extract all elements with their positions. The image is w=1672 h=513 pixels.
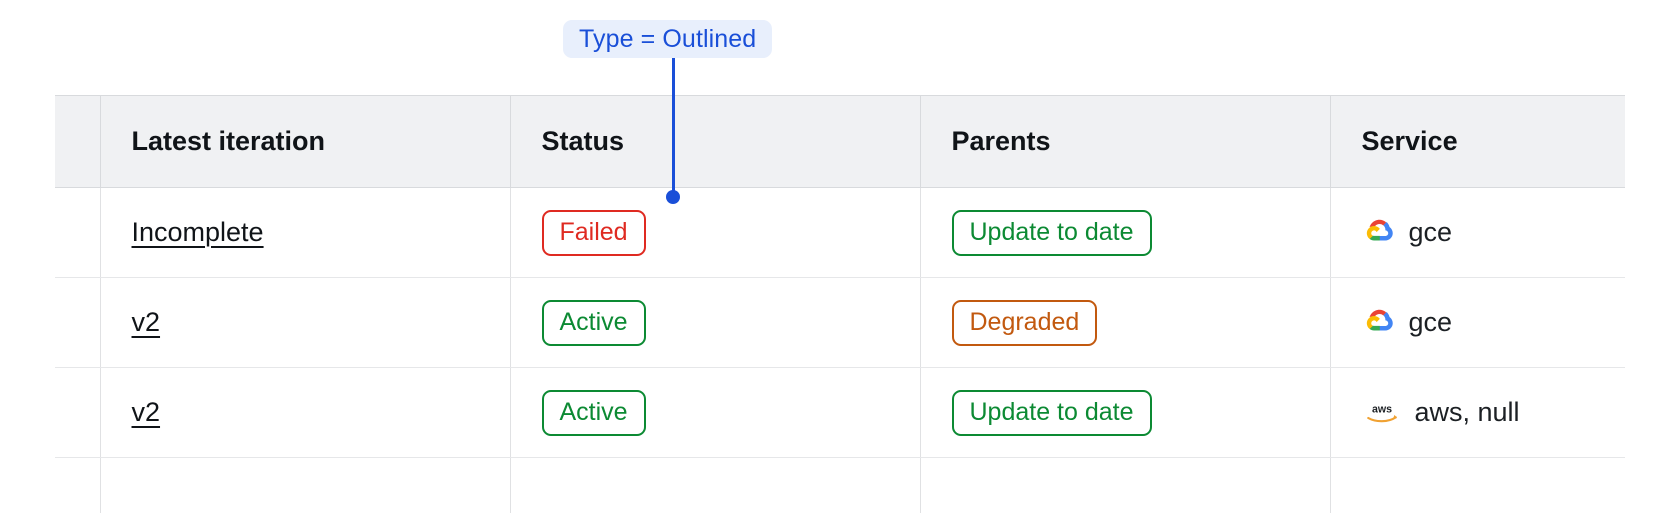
- cell-service: aws aws, null: [1330, 368, 1625, 458]
- column-header-label: Service: [1331, 126, 1626, 157]
- column-header-latest-iteration[interactable]: Latest iteration: [100, 96, 510, 188]
- aws-icon: aws: [1362, 396, 1402, 430]
- service-label: gce: [1409, 217, 1453, 248]
- column-header-service[interactable]: Service: [1330, 96, 1625, 188]
- cell-service: gce: [1330, 278, 1625, 368]
- iteration-link[interactable]: v2: [132, 307, 161, 338]
- cell-status: [510, 458, 920, 513]
- service-label: aws, null: [1415, 397, 1520, 428]
- cell-parents: Update to date: [920, 188, 1330, 278]
- column-header-label: Status: [511, 126, 920, 157]
- cell-latest-iteration: [100, 458, 510, 513]
- aws-icon-glyph: aws: [1362, 400, 1402, 426]
- cell-status: Active: [510, 278, 920, 368]
- column-header-parents[interactable]: Parents: [920, 96, 1330, 188]
- iterations-table: Latest iteration Status Parents Service: [55, 95, 1625, 513]
- parents-badge: Update to date: [952, 390, 1152, 436]
- annotation-badge-label: Type = Outlined: [579, 25, 756, 54]
- service-label: gce: [1409, 307, 1453, 338]
- table-header-row: Latest iteration Status Parents Service: [55, 96, 1625, 188]
- parents-badge: Update to date: [952, 210, 1152, 256]
- table-body: Incomplete Failed Update to date: [55, 188, 1625, 513]
- cell-latest-iteration: v2: [100, 278, 510, 368]
- row-gutter-cell: [55, 368, 100, 458]
- column-header-label: Parents: [921, 126, 1330, 157]
- cell-latest-iteration: v2: [100, 368, 510, 458]
- google-cloud-icon: [1362, 216, 1396, 250]
- parents-badge: Degraded: [952, 300, 1098, 346]
- cell-status: Failed: [510, 188, 920, 278]
- iteration-link[interactable]: v2: [132, 397, 161, 428]
- row-gutter-cell: [55, 188, 100, 278]
- row-gutter-cell: [55, 278, 100, 368]
- row-gutter-cell: [55, 458, 100, 513]
- table-container: Latest iteration Status Parents Service: [55, 95, 1625, 513]
- cell-service: [1330, 458, 1625, 513]
- cell-parents: Degraded: [920, 278, 1330, 368]
- svg-text:aws: aws: [1371, 403, 1391, 415]
- column-header-label: Latest iteration: [101, 126, 510, 157]
- table-header: Latest iteration Status Parents Service: [55, 96, 1625, 188]
- google-cloud-icon: [1362, 306, 1396, 340]
- column-header-gutter: [55, 96, 100, 188]
- cell-service: gce: [1330, 188, 1625, 278]
- annotation-badge: Type = Outlined: [563, 20, 772, 58]
- column-header-status[interactable]: Status: [510, 96, 920, 188]
- table-row: [55, 458, 1625, 513]
- cell-parents: [920, 458, 1330, 513]
- cell-status: Active: [510, 368, 920, 458]
- table-row: v2 Active Degraded: [55, 278, 1625, 368]
- status-badge: Active: [542, 390, 646, 436]
- status-badge: Active: [542, 300, 646, 346]
- table-row: v2 Active Update to date: [55, 368, 1625, 458]
- cell-parents: Update to date: [920, 368, 1330, 458]
- cell-latest-iteration: Incomplete: [100, 188, 510, 278]
- iteration-link[interactable]: Incomplete: [132, 217, 264, 248]
- status-badge: Failed: [542, 210, 646, 256]
- table-row: Incomplete Failed Update to date: [55, 188, 1625, 278]
